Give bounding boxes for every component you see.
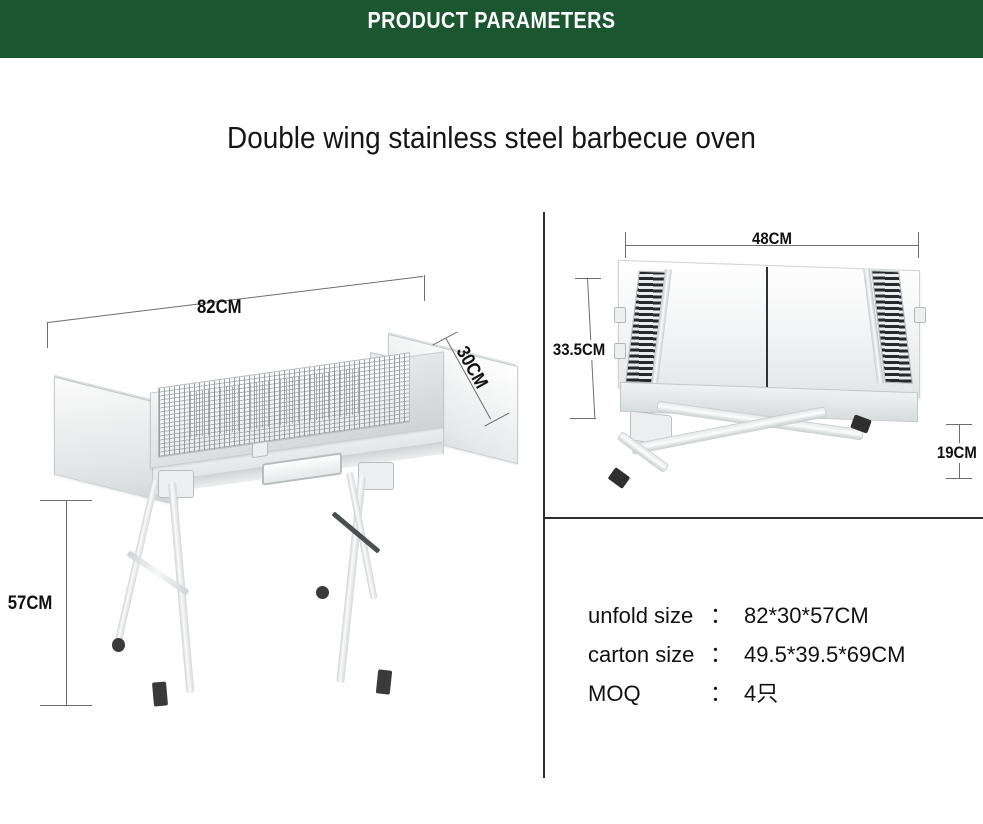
- dimension-tick-19cm-top: [946, 424, 972, 425]
- spec-label-moq: MOQ: [588, 681, 710, 707]
- spec-colon-unfold-size: ：: [710, 598, 744, 630]
- spec-value-unfold-size: 82*30*57CM: [744, 603, 869, 629]
- dimension-label-48cm: 48CM: [752, 229, 792, 249]
- leg-foot-rear-left: [112, 638, 125, 652]
- dimension-tick-48cm-right: [918, 232, 919, 258]
- dimension-tick-19cm-bottom: [946, 478, 972, 479]
- panel-divider-horizontal: [545, 517, 983, 519]
- spec-value-carton-size: 49.5*39.5*69CM: [744, 642, 905, 668]
- spec-row-moq: MOQ ： 4只: [588, 676, 968, 708]
- side-hook-lower-left: [614, 343, 626, 359]
- dimension-label-19cm: 19CM: [936, 443, 978, 463]
- dimension-label-335cm: 33.5CM: [552, 340, 606, 360]
- dimension-tick-48cm-left: [625, 232, 626, 258]
- header-banner: PRODUCT PARAMETERS: [0, 0, 983, 58]
- product-photo-unfolded: [40, 330, 540, 730]
- dimension-label-82cm: 82CM: [197, 297, 242, 319]
- leg-foot-front-right: [376, 669, 392, 694]
- leg-foot-rear-right: [316, 586, 329, 599]
- side-hook-right: [914, 307, 926, 323]
- dimension-label-57cm: 57CM: [6, 592, 54, 616]
- spec-value-moq: 4只: [744, 676, 778, 708]
- firebox-latch: [252, 441, 268, 458]
- spec-colon-carton-size: ：: [710, 637, 744, 669]
- panel-divider-vertical: [543, 212, 545, 778]
- dimension-tick-335cm-bottom: [570, 418, 596, 419]
- dimension-line-57cm: [66, 500, 67, 706]
- leg-foot-front-left: [152, 681, 168, 706]
- spec-label-carton-size: carton size: [588, 642, 710, 668]
- spec-colon-moq: ：: [710, 676, 744, 708]
- dimension-tick-57cm-top: [40, 500, 92, 501]
- dimension-tick-57cm-bottom: [40, 705, 92, 706]
- dimension-tick-335cm-top: [575, 278, 601, 279]
- side-hook-upper-left: [614, 307, 626, 323]
- dimension-tick-82cm-right: [424, 275, 425, 301]
- dimension-tick-82cm-left: [47, 322, 48, 348]
- leg-front-right: [336, 476, 366, 684]
- page-title: Double wing stainless steel barbecue ove…: [49, 120, 934, 156]
- banner-title: PRODUCT PARAMETERS: [69, 0, 914, 40]
- spec-row-unfold-size: unfold size ： 82*30*57CM: [588, 598, 968, 630]
- product-photo-folded: [600, 265, 940, 500]
- leg-rear-left: [113, 479, 159, 648]
- spec-row-carton-size: carton size ： 49.5*39.5*69CM: [588, 637, 968, 669]
- specifications-list: unfold size ： 82*30*57CM carton size ： 4…: [588, 598, 968, 715]
- spec-label-unfold-size: unfold size: [588, 603, 710, 629]
- lid-seam: [766, 267, 768, 389]
- folded-foot-left: [608, 467, 631, 489]
